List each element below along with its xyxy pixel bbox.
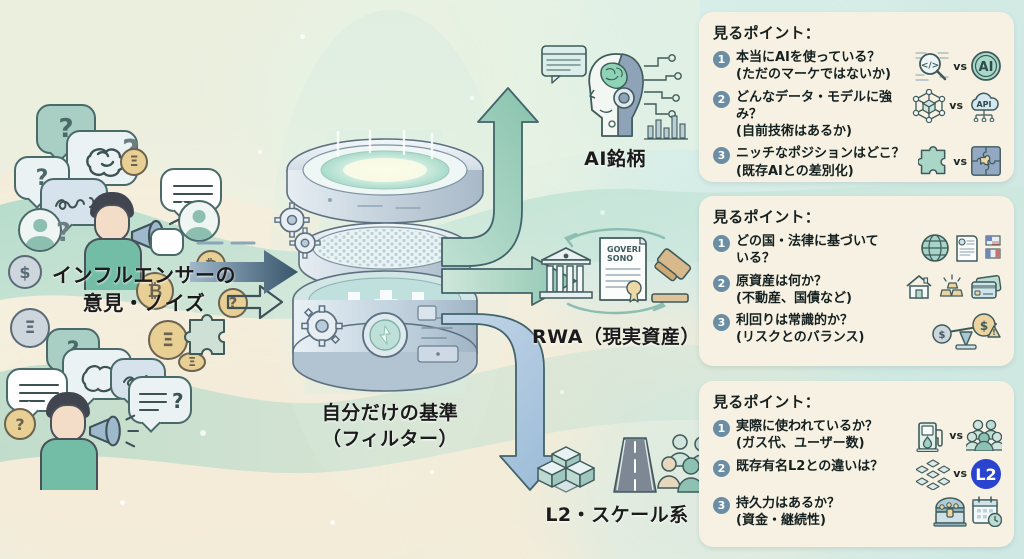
document-title-line2: SONO	[607, 254, 633, 263]
point-row: 2 どんなデータ・モデルに強み？ (自前技術はあるか)	[713, 89, 1002, 141]
vs-label: vs	[953, 467, 967, 480]
panel-title: 見るポイント：	[713, 391, 1002, 412]
svg-text:$: $	[939, 330, 946, 341]
branch-label-ai: AI銘柄	[540, 146, 690, 172]
branch-label-l2: L2・スケール系	[512, 502, 722, 528]
house-icon	[904, 273, 934, 301]
flags-icon	[984, 233, 1002, 263]
point-number: 3	[713, 147, 730, 164]
core-glow-icon	[363, 313, 407, 357]
circuit-traces-icon	[644, 55, 681, 117]
point-number: 3	[713, 314, 730, 331]
puzzle-grid-icon	[970, 145, 1002, 177]
point-icons	[933, 495, 1002, 527]
left-title: インフルエンサーの 意見・ノイズ	[14, 262, 274, 317]
svg-text:</>: </>	[921, 61, 939, 71]
point-sub: (リスクとのバランス)	[736, 329, 928, 346]
point-icons	[904, 273, 1002, 301]
point-number: 2	[713, 275, 730, 292]
point-text: どんなデータ・モデルに強み？ (自前技術はあるか)	[736, 89, 910, 141]
point-main: 本当にAIを使っている？	[736, 50, 880, 65]
certificate-document-icon: GOVERI SONO	[600, 238, 646, 302]
points-panel-l2: 見るポイント： 1 実際に使われているか？ (ガス代、ユーザー数) v	[699, 381, 1014, 547]
person-face	[94, 204, 130, 242]
vs-label: vs	[953, 155, 967, 168]
l2-branch-illustration	[528, 418, 718, 500]
point-row: 1 どの国・法律に基づいて いる？	[713, 233, 1002, 268]
puzzle-piece-icon	[184, 312, 230, 362]
branch-label-rwa: RWA（現実資産）	[516, 324, 716, 350]
document-title-line1: GOVERI	[607, 245, 641, 254]
panel-title: 見るポイント：	[713, 206, 1002, 227]
robot-head-icon	[589, 54, 643, 136]
ethereum-coin-icon: Ξ	[120, 148, 148, 176]
point-text: 既存有名L2との違いは？	[736, 458, 914, 475]
infographic-canvas: ? ? ?	[0, 0, 1024, 559]
points-list: 1 実際に使われているか？ (ガス代、ユーザー数) vs	[713, 418, 1002, 534]
api-cloud-icon: API	[966, 90, 1002, 122]
points-panel-rwa: 見るポイント： 1 どの国・法律に基づいて いる？	[699, 196, 1014, 366]
point-row: 1 実際に使われているか？ (ガス代、ユーザー数) vs	[713, 418, 1002, 453]
legal-document-icon	[953, 233, 981, 263]
l2-badge-icon: L2	[970, 458, 1002, 490]
megaphone-icon	[84, 408, 144, 454]
point-main: どんなデータ・モデルに強み？	[736, 90, 892, 122]
panel-title: 見るポイント：	[713, 22, 1002, 43]
speech-bubble-small	[150, 228, 184, 256]
point-main: ニッチなポジションはどこ？	[736, 146, 905, 161]
point-sub: (資金・継続性)	[736, 512, 931, 529]
point-sub: (自前技術はあるか)	[736, 123, 910, 140]
network-cube-icon	[912, 89, 946, 123]
sparkle-dot	[330, 520, 335, 525]
floating-question-mark: ?	[56, 218, 71, 248]
point-row: 3 持久力はあるか？ (資金・継続性)	[713, 495, 1002, 530]
person-face	[50, 404, 86, 442]
center-title-line1: 自分だけの基準	[275, 400, 505, 426]
avatar-body	[26, 236, 55, 252]
points-list: 1 どの国・法律に基づいて いる？	[713, 233, 1002, 355]
bank-building-icon	[540, 248, 592, 298]
svg-text:!: !	[992, 328, 996, 337]
point-main: 利回りは常識的か？	[736, 313, 853, 328]
center-title-line2: （フィルター）	[275, 426, 505, 452]
point-icons: </> vs AI	[914, 49, 1002, 83]
gold-bars-icon	[937, 273, 967, 301]
point-row: 3 ニッチなポジションはどこ？ (既存AIとの差別化) vs	[713, 145, 1002, 180]
point-text: 持久力はあるか？ (資金・継続性)	[736, 495, 931, 530]
vs-label: vs	[949, 429, 963, 442]
point-row: 2 原資産は何か？ (不動産、国債など)	[713, 273, 1002, 308]
treasure-chest-icon	[933, 495, 967, 527]
calendar-clock-icon	[970, 495, 1002, 527]
ai-branch-illustration	[540, 32, 690, 150]
point-icons: $ $ !	[930, 312, 1002, 350]
svg-text:AI: AI	[979, 60, 994, 75]
point-number: 3	[713, 497, 730, 514]
point-main: どの国・法律に基づいて	[736, 234, 879, 249]
point-icons: vs L2	[916, 458, 1002, 490]
point-text: 利回りは常識的か？ (リスクとのバランス)	[736, 312, 928, 347]
point-text: ニッチなポジションはどこ？ (既存AIとの差別化)	[736, 145, 916, 180]
point-sub: (既存AIとの差別化)	[736, 163, 916, 180]
point-icons	[920, 233, 1002, 263]
puzzle-piece-icon	[918, 145, 950, 177]
isometric-cubes-icon	[538, 447, 594, 492]
vs-label: vs	[953, 60, 967, 73]
point-sub: いる？	[736, 250, 918, 267]
point-text: 本当にAIを使っている？ (ただのマーケではないか)	[736, 49, 912, 84]
sparkle-dot	[300, 34, 305, 39]
point-text: 実際に使われているか？ (ガス代、ユーザー数)	[736, 418, 914, 453]
point-main: 持久力はあるか？	[736, 496, 840, 511]
point-number: 1	[713, 420, 730, 437]
rwa-branch-illustration: GOVERI SONO	[522, 222, 708, 322]
l2-badge-text: L2	[975, 465, 996, 484]
left-title-line2: 意見・ノイズ	[14, 290, 274, 318]
svg-text:API: API	[976, 100, 991, 109]
gas-pump-icon	[916, 418, 946, 452]
point-text: 原資産は何か？ (不動産、国債など)	[736, 273, 902, 308]
highway-road-icon	[614, 438, 656, 492]
point-sub: (ガス代、ユーザー数)	[736, 435, 914, 452]
code-magnifier-icon: </>	[914, 49, 950, 83]
point-sub: (不動産、国債など)	[736, 290, 902, 307]
point-icons: vs	[918, 145, 1002, 177]
point-main: 原資産は何か？	[736, 274, 827, 289]
ai-badge-icon: AI	[970, 50, 1002, 82]
avatar-head	[193, 210, 206, 223]
point-row: 1 本当にAIを使っている？ (ただのマーケではないか)	[713, 49, 1002, 84]
point-number: 1	[713, 51, 730, 68]
point-row: 2 既存有名L2との違いは？	[713, 458, 1002, 490]
point-icons: vs API	[912, 89, 1002, 123]
point-row: 3 利回りは常識的か？ (リスクとのバランス) $ $	[713, 312, 1002, 350]
credit-cards-icon	[970, 273, 1002, 301]
point-number: 1	[713, 235, 730, 252]
point-sub: (ただのマーケではないか)	[736, 66, 912, 83]
cube-cluster-icon	[916, 458, 950, 490]
point-number: 2	[713, 460, 730, 477]
points-panel-ai: 見るポイント： 1 本当にAIを使っている？ (ただのマーケではないか)	[699, 12, 1014, 182]
people-group-icon	[966, 419, 1002, 451]
svg-text:$: $	[980, 319, 988, 333]
vs-label: vs	[949, 99, 963, 112]
bar-chart-icon	[644, 116, 688, 139]
point-icons: vs	[916, 418, 1002, 452]
balance-scale-icon: $ $ !	[930, 312, 1002, 350]
gear-icon	[288, 226, 322, 260]
center-title: 自分だけの基準 （フィルター）	[275, 400, 505, 452]
sparkle-dot	[430, 470, 434, 474]
coin-question-icon: ?	[4, 408, 36, 440]
point-number: 2	[713, 91, 730, 108]
avatar-head	[33, 219, 47, 233]
points-list: 1 本当にAIを使っている？ (ただのマーケではないか)	[713, 49, 1002, 185]
svg-text:?: ?	[172, 389, 184, 413]
point-main: 実際に使われているか？	[736, 419, 878, 434]
point-text: どの国・法律に基づいて いる？	[736, 233, 918, 268]
globe-icon	[920, 233, 950, 263]
gavel-icon	[652, 248, 692, 302]
left-title-line1: インフルエンサーの	[14, 262, 274, 290]
point-main: 既存有名L2との違いは？	[736, 459, 883, 474]
sparkle-dot	[600, 210, 605, 215]
chat-window-icon	[542, 46, 586, 83]
